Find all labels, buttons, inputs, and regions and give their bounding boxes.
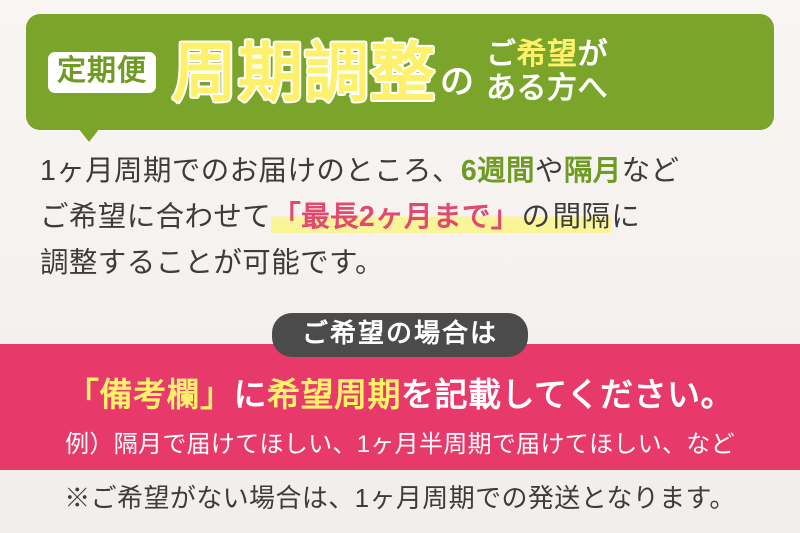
condition-pill-label: ご希望の場合は [272,313,528,357]
pink-main-message: 「備考欄」に希望周期を記載してください。 [0,368,800,416]
pink-keyword-remarks: 「備考欄」 [66,376,234,413]
banner-headline-particle: の [440,65,474,105]
para-l1-d: 隔月 [564,155,622,187]
para-l1-c: や [535,155,564,187]
banner-headline-group: 周期調整 の [172,40,474,105]
pink-keyword-cycle: 希望周期 [267,376,401,413]
banner-sub-prefix: ご [486,38,517,71]
para-l2-b: 「最長2ヶ月まで」 [271,201,520,233]
pink-example-text: 例）隔月で届けてほしい、1ヶ月半周期で届けてほしい、など [0,424,800,459]
paragraph-line-2: ご希望に合わせて「最長2ヶ月まで」の間隔に [40,194,780,240]
para-l1-e: など [622,155,680,187]
para-l1-b: 6週間 [461,155,535,187]
banner-sub-suffix: が [578,38,609,71]
para-l2-a: ご希望に合わせて [40,201,271,233]
banner-tail-pointer [78,128,100,142]
description-paragraph: 1ヶ月周期でのお届けのところ、6週間や隔月など ご希望に合わせて「最長2ヶ月まで… [40,148,780,286]
para-l2-e: に [611,201,640,233]
pink-line1-b: に [233,376,267,413]
para-l2-c: の [521,201,552,233]
subscription-badge: 定期便 [48,52,156,93]
pink-line1-d: を記載してください。 [401,376,734,413]
banner-sub-keyword: 希望 [517,38,578,71]
promo-page: 定期便 周期調整 の ご希望が ある方へ 1ヶ月周期でのお届けのところ、6週間や… [0,0,800,533]
footer-note: ※ご希望がない場合は、1ヶ月周期での発送となります。 [0,478,800,515]
banner-subtext: ご希望が ある方へ [486,38,608,105]
paragraph-line-1: 1ヶ月周期でのお届けのところ、6週間や隔月など [40,148,780,194]
banner-headline: 周期調整 [172,40,436,105]
header-banner: 定期便 周期調整 の ご希望が ある方へ [26,14,774,130]
banner-subtext-line1: ご希望が [486,38,608,72]
para-l2-d: 間隔 [552,201,612,233]
para-l1-a: 1ヶ月周期でのお届けのところ、 [40,155,461,187]
banner-subtext-line2: ある方へ [486,72,608,106]
paragraph-line-3: 調整することが可能です。 [40,240,780,286]
